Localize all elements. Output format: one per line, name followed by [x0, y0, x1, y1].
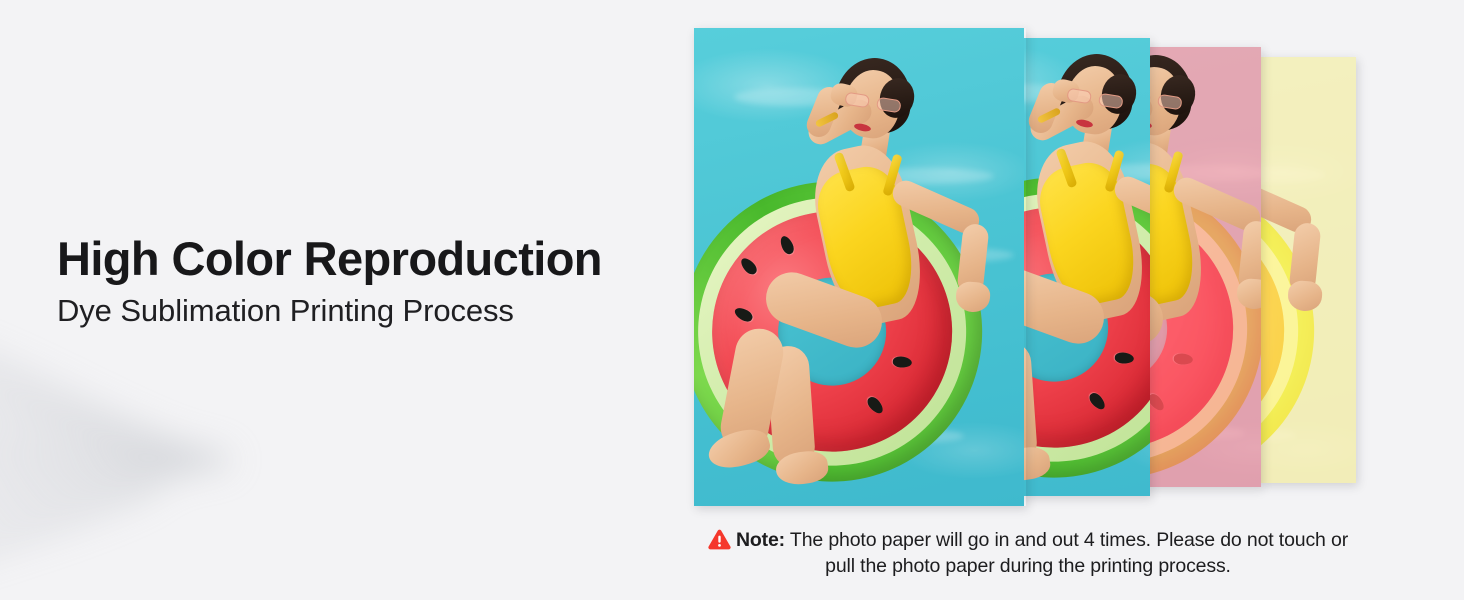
palm-leaf-shadow-decoration	[0, 300, 340, 600]
note-label: Note:	[736, 529, 785, 551]
print-pass-panel-yellow	[1260, 57, 1356, 483]
banner-root: High Color Reproduction Dye Sublimation …	[0, 0, 1464, 600]
heading-block: High Color Reproduction Dye Sublimation …	[57, 233, 677, 329]
photo-subject-woman	[694, 28, 1024, 506]
note-block: Note: The photo paper will go in and out…	[694, 528, 1362, 579]
print-pass-panel-full-color-2	[1022, 38, 1150, 496]
page-title: High Color Reproduction	[57, 233, 677, 286]
warning-triangle-icon	[708, 529, 731, 550]
print-pass-panel-stack	[690, 0, 1390, 525]
print-pass-panel-magenta	[1145, 47, 1261, 487]
print-pass-panel-full-color-1	[694, 28, 1026, 506]
note-text: The photo paper will go in and out 4 tim…	[785, 529, 1348, 577]
page-subtitle: Dye Sublimation Printing Process	[57, 293, 677, 330]
